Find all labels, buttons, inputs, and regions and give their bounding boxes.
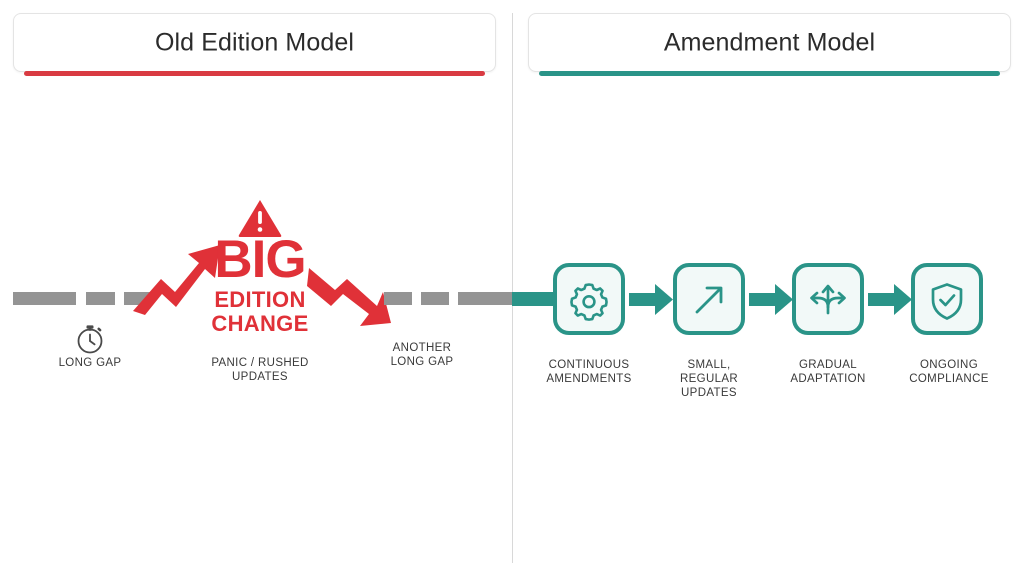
step-card-small-regular-updates[interactable]: [673, 263, 745, 335]
diagram-canvas: Old Edition Model Amendment Model LONG G…: [0, 0, 1024, 576]
step-label-2: SMALL, REGULAR UPDATES: [654, 358, 764, 400]
step-card-ongoing-compliance[interactable]: [911, 263, 983, 335]
flow-arrow-3: [868, 284, 912, 315]
timeline-dash-right-1: [384, 292, 412, 305]
arrow-up-right-icon: [677, 267, 741, 331]
right-panel-title: Amendment Model: [529, 28, 1010, 57]
right-header-accent-rule: [539, 71, 1000, 76]
step-label-4: ONGOING COMPLIANCE: [893, 358, 1005, 386]
left-panel-title: Old Edition Model: [14, 28, 495, 57]
big-headline-line2: EDITION: [195, 288, 325, 312]
stopwatch-icon: [72, 320, 108, 356]
step-label-3: GRADUAL ADAPTATION: [772, 358, 884, 386]
gear-icon: [557, 267, 621, 331]
timeline-after-label: ANOTHER LONG GAP: [366, 341, 478, 369]
panel-divider: [512, 13, 513, 563]
left-header-accent-rule: [24, 71, 485, 76]
big-headline: BIG: [205, 233, 315, 286]
timeline-dash-right-2: [421, 292, 449, 305]
flow-entry-bar: [512, 292, 556, 306]
timeline-before-label: LONG GAP: [33, 356, 147, 370]
timeline-dash-right-3: [458, 292, 512, 305]
branching-arrows-icon: [796, 267, 860, 331]
red-falling-arrow-icon: [307, 264, 393, 332]
timeline-dash-left-1: [13, 292, 76, 305]
timeline-dash-left-2: [86, 292, 115, 305]
flow-arrow-1: [629, 284, 673, 315]
step-card-gradual-adaptation[interactable]: [792, 263, 864, 335]
step-label-1: CONTINUOUS AMENDMENTS: [530, 358, 648, 386]
left-panel-header: Old Edition Model: [13, 13, 496, 72]
right-panel-header: Amendment Model: [528, 13, 1011, 72]
step-card-continuous-amendments[interactable]: [553, 263, 625, 335]
event-caption: PANIC / RUSHED UPDATES: [190, 356, 330, 384]
shield-check-icon: [915, 267, 979, 331]
big-headline-line3: CHANGE: [195, 312, 325, 336]
flow-arrow-2: [749, 284, 793, 315]
